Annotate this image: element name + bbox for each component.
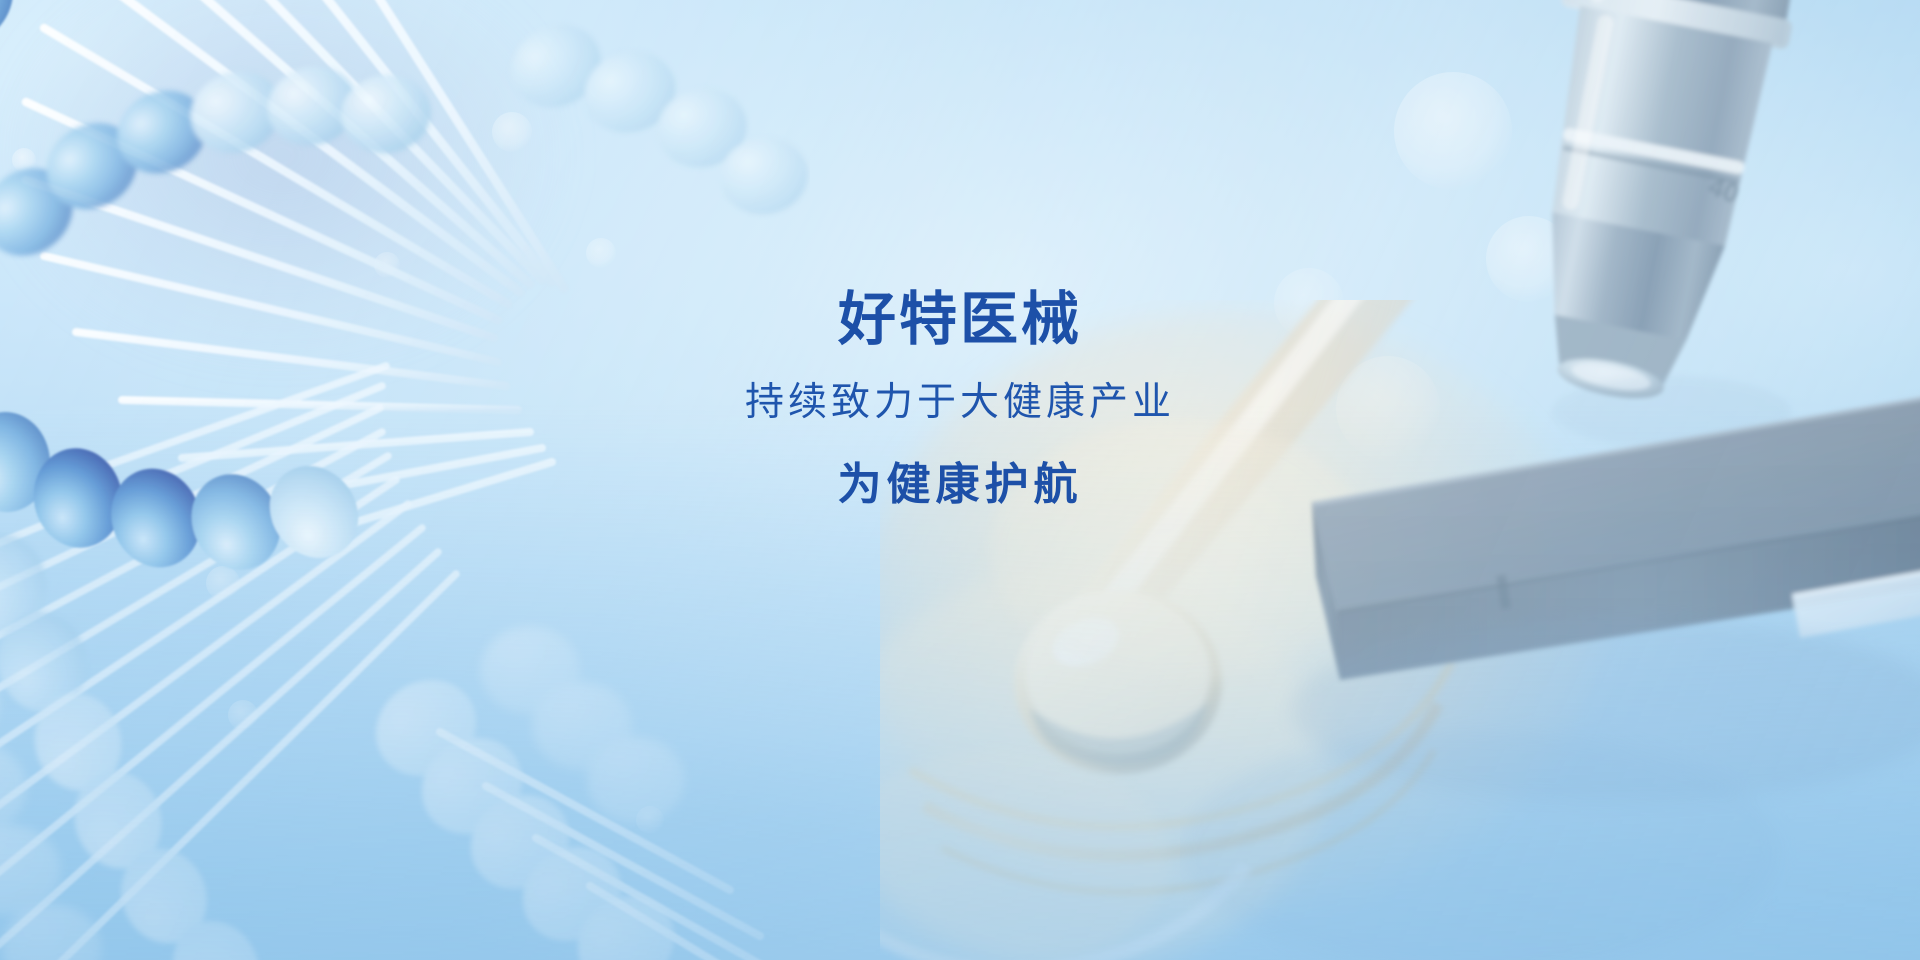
hero-tagline: 为健康护航	[0, 459, 1920, 512]
page-title: 好特医械	[0, 286, 1920, 354]
hero-banner: 40	[0, 0, 1920, 960]
hero-text-block: 好特医械 持续致力于大健康产业 为健康护航	[0, 286, 1920, 512]
hero-subtitle: 持续致力于大健康产业	[0, 380, 1920, 427]
